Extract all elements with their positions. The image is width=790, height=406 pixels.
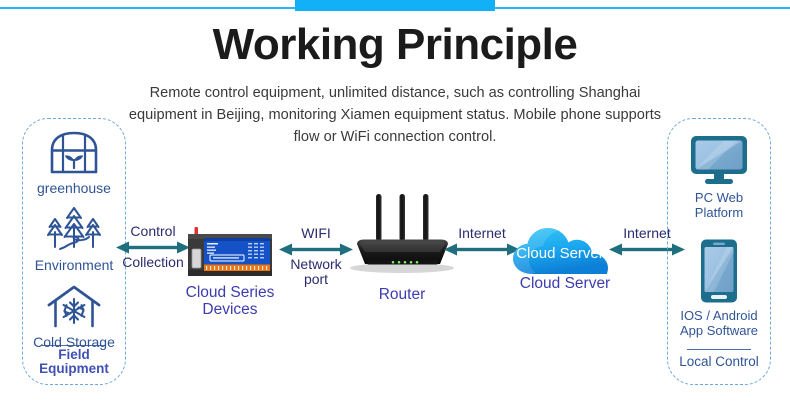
caption-cloud-series-devices-line1: Cloud Series: [170, 284, 290, 302]
connection-label-wifi: WIFI: [279, 226, 353, 242]
industrial-gateway-icon: [186, 224, 274, 280]
double-arrow-icon: [444, 243, 520, 256]
connection-field-to-device: Control Collection: [116, 224, 190, 270]
right-panel-label-app-line1: IOS / Android: [667, 309, 771, 324]
greenhouse-icon: [46, 130, 102, 176]
right-panel-divider: [687, 349, 751, 350]
caption-cloud-series-devices-line2: Devices: [170, 301, 290, 319]
cloud-server-art[interactable]: Cloud Server: [512, 226, 620, 278]
page-title: Working Principle: [0, 22, 790, 68]
right-panel-label-pc-line1: PC Web: [667, 191, 771, 206]
left-panel-label-greenhouse: greenhouse: [22, 181, 126, 197]
double-arrow-icon: [279, 243, 353, 256]
cloud-icon: [512, 226, 620, 278]
cloud-series-device-art[interactable]: [186, 224, 274, 285]
left-panel-footer-line2: Equipment: [22, 362, 126, 377]
router-icon: [345, 192, 460, 282]
left-panel-item-environment[interactable]: Environment: [22, 203, 126, 274]
page-subtitle: Remote control equipment, unlimited dist…: [118, 82, 672, 149]
double-arrow-icon: [116, 241, 190, 254]
connection-device-to-router: WIFI Network port: [279, 226, 353, 288]
right-panel-label-app-line2: App Software: [667, 324, 771, 339]
caption-cloud-server: Cloud Server: [500, 275, 630, 293]
right-panel-item-pc-web-platform[interactable]: PC Web Platform: [667, 134, 771, 220]
forest-environment-icon: [42, 203, 106, 253]
connection-label-control: Control: [116, 224, 190, 240]
caption-router: Router: [342, 286, 462, 304]
cold-storage-icon: [45, 284, 103, 330]
right-panel-item-mobile-app[interactable]: IOS / Android App Software: [667, 238, 771, 338]
connection-label-internet-left: Internet: [444, 226, 520, 242]
router-art[interactable]: [345, 192, 460, 287]
top-accent-bar: [295, 0, 495, 11]
connection-router-to-cloud: Internet: [444, 226, 520, 257]
right-panel-footer: Local Control: [667, 355, 771, 370]
left-panel-label-environment: Environment: [22, 258, 126, 274]
connection-label-network: Network: [279, 257, 353, 273]
left-panel-item-greenhouse[interactable]: greenhouse: [22, 130, 126, 197]
connection-label-collection: Collection: [116, 255, 190, 271]
right-panel-label-pc-line2: Platform: [667, 206, 771, 221]
monitor-icon: [688, 134, 750, 186]
working-principle-infographic: Working Principle Remote control equipme…: [0, 0, 790, 406]
smartphone-icon: [699, 238, 739, 304]
left-panel-item-cold-storage[interactable]: Cold Storage: [22, 284, 126, 351]
